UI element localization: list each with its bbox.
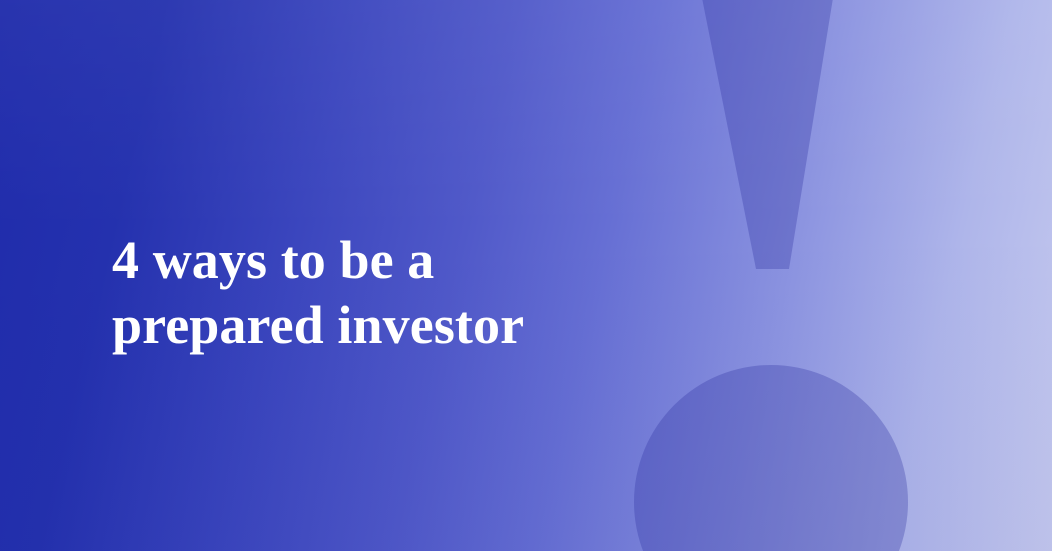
headline-line-1: 4 ways to be a <box>112 228 632 293</box>
headline: 4 ways to be a prepared investor <box>112 228 632 358</box>
headline-line-2: prepared investor <box>112 293 632 358</box>
promo-banner: 4 ways to be a prepared investor <box>0 0 1052 551</box>
